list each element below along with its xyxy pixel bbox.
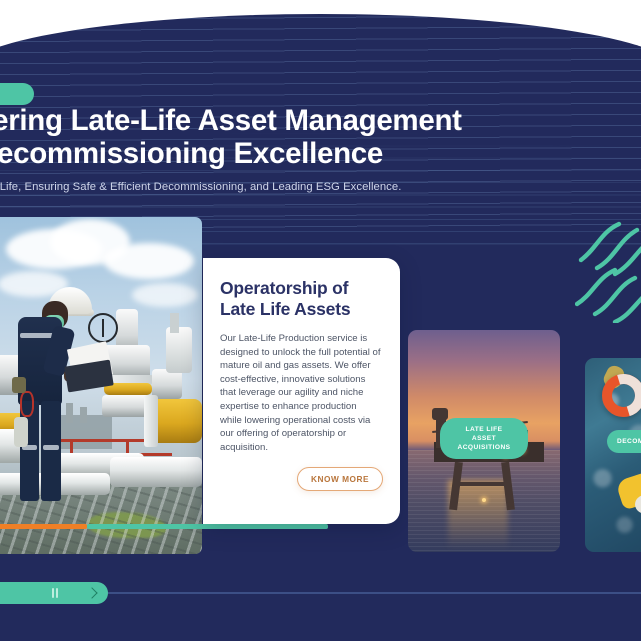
cloud bbox=[132, 283, 198, 307]
platform-photo[interactable]: LATE LIFE ASSET ACQUISITIONS bbox=[408, 330, 560, 552]
rig-brace bbox=[458, 482, 510, 486]
teal-wave-lines bbox=[575, 218, 641, 323]
eyebrow-badge: O bbox=[0, 83, 34, 105]
page-title: eering Late-Life Asset Management Decomm… bbox=[0, 104, 536, 170]
valve-top bbox=[166, 327, 192, 373]
tool-pouch bbox=[12, 377, 26, 393]
decommissioning-badge[interactable]: DECOM bbox=[607, 430, 641, 453]
handwheel-icon bbox=[88, 313, 118, 343]
rig-light bbox=[482, 498, 486, 502]
card-body-text: Our Late-Life Production service is desi… bbox=[220, 332, 381, 454]
badge-line-1: LATE LIFE bbox=[466, 426, 503, 433]
card-title-line-1: Operatorship of bbox=[220, 278, 348, 298]
headline-line-1: eering Late-Life Asset Management bbox=[0, 104, 462, 137]
stack bbox=[66, 403, 73, 423]
life-ring-icon bbox=[602, 374, 641, 417]
worker-photo[interactable] bbox=[0, 217, 202, 554]
progress-bar-teal[interactable] bbox=[87, 524, 328, 529]
card-title-line-2: Late Life Assets bbox=[220, 299, 350, 319]
chevron-right-icon[interactable] bbox=[86, 587, 97, 598]
stack bbox=[80, 407, 87, 423]
operatorship-card: Operatorship of Late Life Assets Our Lat… bbox=[203, 258, 400, 524]
stem bbox=[170, 313, 179, 333]
decommissioning-photo[interactable]: DECOM bbox=[585, 358, 641, 552]
late-life-badge[interactable]: LATE LIFE ASSET ACQUISITIONS bbox=[440, 418, 528, 459]
page-root: O eering Late-Life Asset Management Deco… bbox=[0, 0, 641, 641]
pipe bbox=[110, 457, 202, 487]
know-more-button[interactable]: KNOW MORE bbox=[297, 467, 383, 491]
progress-bar-orange[interactable] bbox=[0, 524, 87, 529]
page-subtitle: Asset Life, Ensuring Safe & Efficient De… bbox=[0, 181, 608, 193]
slider-thumb[interactable] bbox=[0, 582, 108, 604]
badge-line-2: ASSET bbox=[472, 435, 496, 442]
badge-label: DECOM bbox=[617, 438, 641, 445]
flange bbox=[144, 395, 158, 447]
rig-crane bbox=[432, 408, 448, 420]
pause-icon[interactable] bbox=[52, 588, 61, 598]
card-title: Operatorship of Late Life Assets bbox=[220, 278, 381, 320]
badge-line-3: ACQUISITIONS bbox=[457, 444, 510, 451]
cloud bbox=[104, 243, 194, 279]
headline-line-2: Decommissioning Excellence bbox=[0, 137, 536, 170]
